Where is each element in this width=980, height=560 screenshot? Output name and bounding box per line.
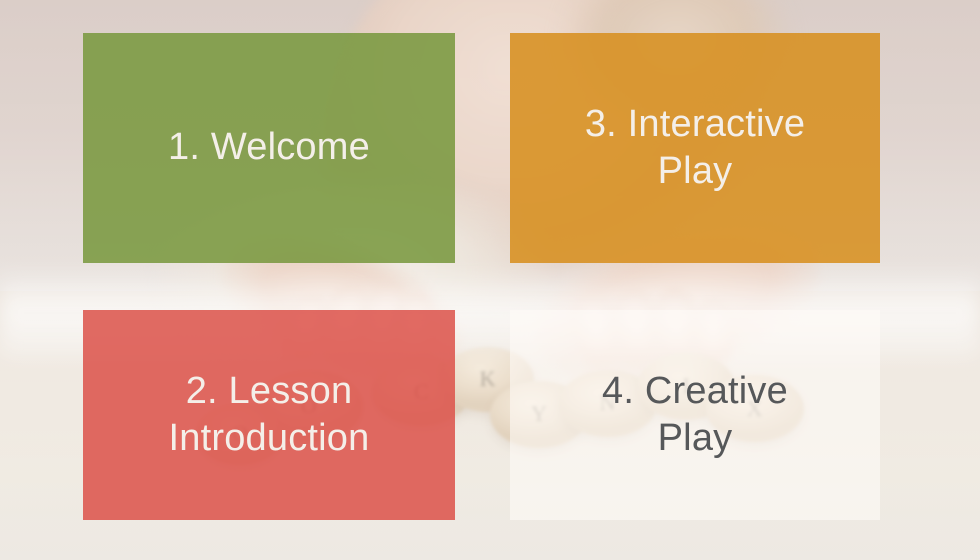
tile-interactive-play-label: 3. Interactive Play	[585, 101, 805, 195]
tile-welcome-label: 1. Welcome	[168, 124, 370, 171]
tile-welcome[interactable]: 1. Welcome	[83, 33, 455, 263]
tile-creative-play[interactable]: 4. Creative Play	[510, 310, 880, 520]
tile-lesson-introduction-label: 2. Lesson Introduction	[169, 368, 370, 462]
tile-lesson-introduction[interactable]: 2. Lesson Introduction	[83, 310, 455, 520]
stage-tile-grid: 1. Welcome 3. Interactive Play 2. Lesson…	[0, 0, 980, 560]
lesson-stages-graphic: O C K Y N I X O 1. Welcome 3. Interactiv…	[0, 0, 980, 560]
tile-creative-play-label: 4. Creative Play	[602, 368, 788, 462]
tile-interactive-play[interactable]: 3. Interactive Play	[510, 33, 880, 263]
